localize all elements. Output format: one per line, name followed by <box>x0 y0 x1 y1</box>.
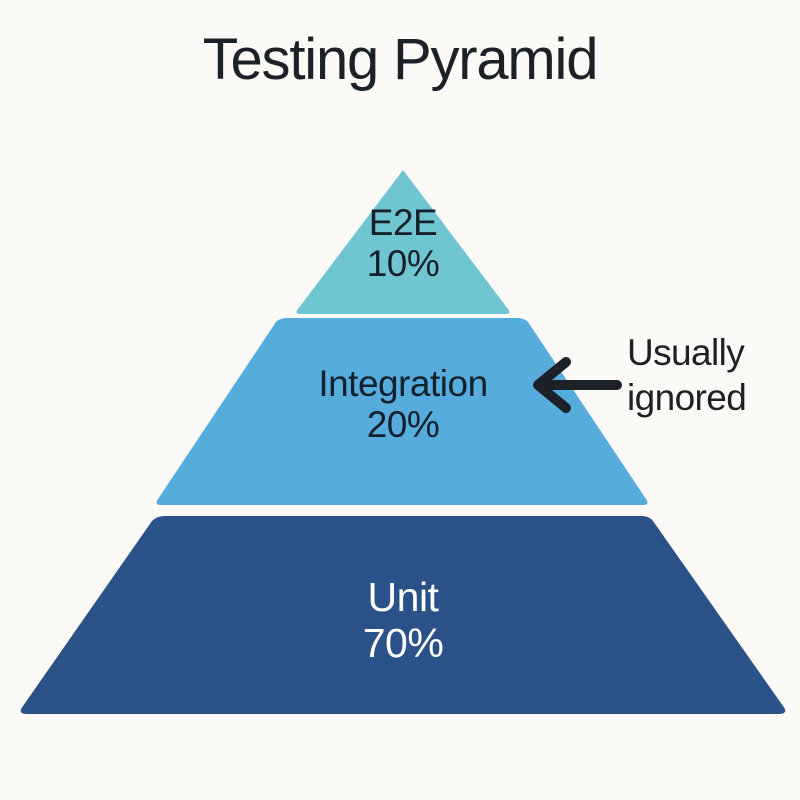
diagram-canvas: Testing Pyramid E2E 10% Integration 20% … <box>0 0 800 800</box>
pyramid-layer-e2e-label: E2E 10% <box>303 202 503 285</box>
annotation-line-2: ignored <box>627 375 800 420</box>
layer-e2e-percent: 10% <box>303 243 503 284</box>
annotation-usually-ignored: Usually ignored <box>627 330 800 420</box>
layer-e2e-name: E2E <box>369 202 437 243</box>
layer-integration-name: Integration <box>318 363 487 404</box>
layer-integration-percent: 20% <box>183 404 623 445</box>
page-title: Testing Pyramid <box>0 26 800 93</box>
pyramid-layer-integration-label: Integration 20% <box>183 363 623 446</box>
layer-unit-percent: 70% <box>203 621 603 667</box>
layer-unit-name: Unit <box>368 574 439 620</box>
pyramid-layer-unit-label: Unit 70% <box>203 575 603 667</box>
annotation-line-1: Usually <box>627 330 800 375</box>
